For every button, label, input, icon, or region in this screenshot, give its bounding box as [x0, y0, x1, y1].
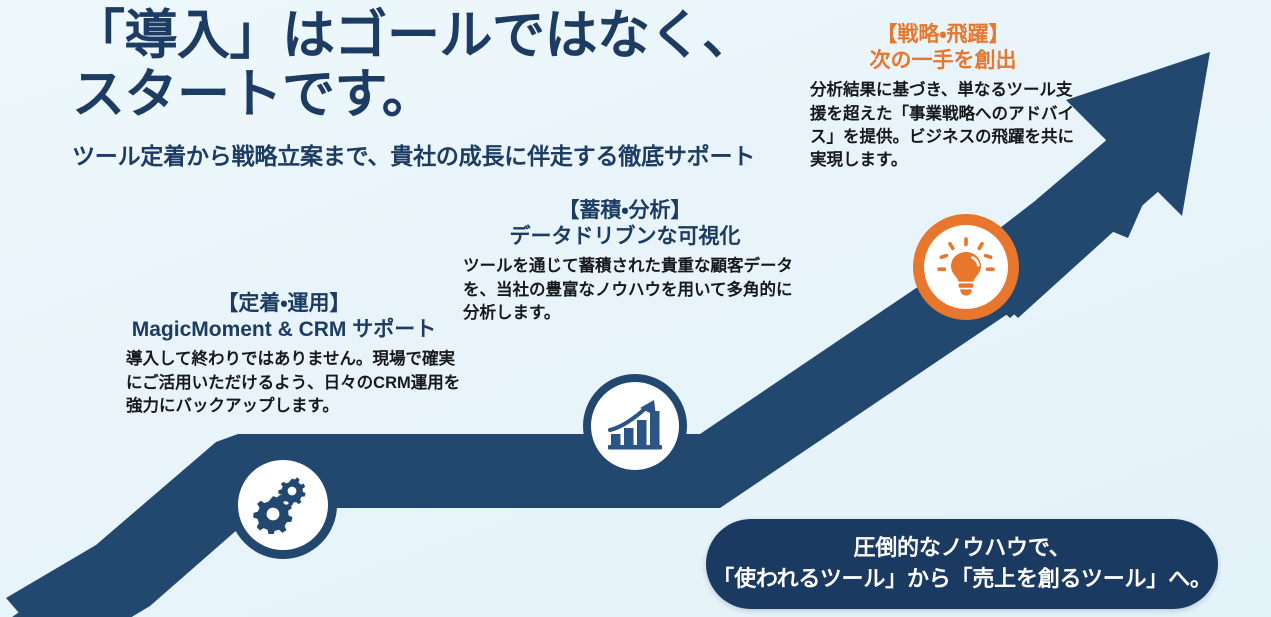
- step-block-retention: 【定着・運用】 MagicMoment & CRM サポート 導入して終わりでは…: [104, 291, 464, 418]
- step-title-line-2: MagicMoment & CRM サポート: [104, 317, 464, 343]
- headline-block: 「導入」はゴールではなく、 スタートです。 ツール定着から戦略立案まで、貴社の成…: [72, 6, 792, 171]
- step-title-line-1: 【戦略・飛躍】: [806, 22, 1080, 48]
- headline-subtitle: ツール定着から戦略立案まで、貴社の成長に伴走する徹底サポート: [72, 137, 792, 171]
- step-title: 【定着・運用】 MagicMoment & CRM サポート: [104, 291, 464, 342]
- gears-icon: [252, 476, 314, 534]
- step-node-retention: [229, 451, 337, 559]
- step-body: 導入して終わりではありません。現場で確実にご活用いただけるよう、日々のCRM運用…: [104, 348, 464, 418]
- headline-line-2: スタートです。: [72, 65, 792, 124]
- step-node-strategy: [913, 214, 1019, 320]
- step-title-line-1: 【定着・運用】: [104, 291, 464, 317]
- step-block-strategy: 【戦略・飛躍】 次の一手を創出 分析結果に基づき、単なるツール支援を超えた「事業…: [806, 22, 1080, 173]
- step-node-analysis: [583, 374, 687, 478]
- step-title-line-1: 【蓄積・分析】: [455, 198, 795, 224]
- bar-chart-growth-icon: [604, 397, 666, 455]
- step-body: ツールを通じて蓄積された貴重な顧客データを、当社の豊富なノウハウを用いて多角的に…: [455, 255, 795, 325]
- step-title: 【戦略・飛躍】 次の一手を創出: [806, 22, 1080, 73]
- summary-banner-line-2: 「使われるツール」から「売上を創るツール」へ。: [712, 564, 1211, 595]
- step-title-line-2: 次の一手を創出: [806, 48, 1080, 74]
- step-body: 分析結果に基づき、単なるツール支援を超えた「事業戦略へのアドバイス」を提供。ビジ…: [806, 79, 1080, 173]
- summary-banner-line-1: 圧倒的なノウハウで、: [853, 533, 1070, 564]
- step-title: 【蓄積・分析】 データドリブンな可視化: [455, 198, 795, 249]
- step-block-analysis: 【蓄積・分析】 データドリブンな可視化 ツールを通じて蓄積された貴重な顧客データ…: [455, 198, 795, 325]
- lightbulb-icon: [935, 236, 997, 298]
- step-title-line-2: データドリブンな可視化: [455, 224, 795, 250]
- infographic-canvas: 「導入」はゴールではなく、 スタートです。 ツール定着から戦略立案まで、貴社の成…: [0, 0, 1271, 617]
- headline-line-1: 「導入」はゴールではなく、: [72, 6, 792, 65]
- summary-banner: 圧倒的なノウハウで、 「使われるツール」から「売上を創るツール」へ。: [706, 519, 1218, 609]
